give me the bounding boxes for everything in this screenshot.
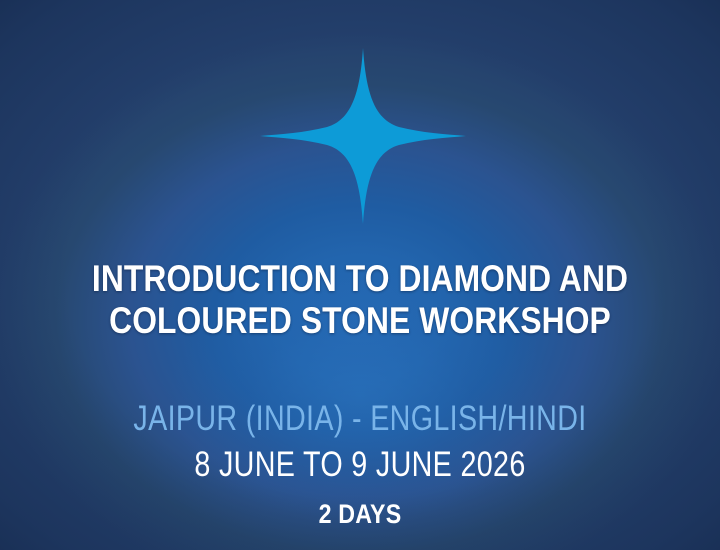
workshop-promo-banner: INTRODUCTION TO DIAMOND AND COLOURED STO… [0, 0, 720, 550]
event-dates: 8 JUNE TO 9 JUNE 2026 [75, 444, 646, 487]
event-details: JAIPUR (INDIA) - ENGLISH/HINDI 8 JUNE TO… [12, 398, 708, 530]
event-location-language: JAIPUR (INDIA) - ENGLISH/HINDI [75, 398, 646, 441]
event-duration: 2 DAYS [61, 499, 660, 530]
banner-content: INTRODUCTION TO DIAMOND AND COLOURED STO… [0, 258, 720, 530]
four-point-sparkle-icon [258, 46, 468, 226]
page-title: INTRODUCTION TO DIAMOND AND COLOURED STO… [61, 258, 660, 342]
title-line-2: STONE WORKSHOP [301, 300, 611, 341]
